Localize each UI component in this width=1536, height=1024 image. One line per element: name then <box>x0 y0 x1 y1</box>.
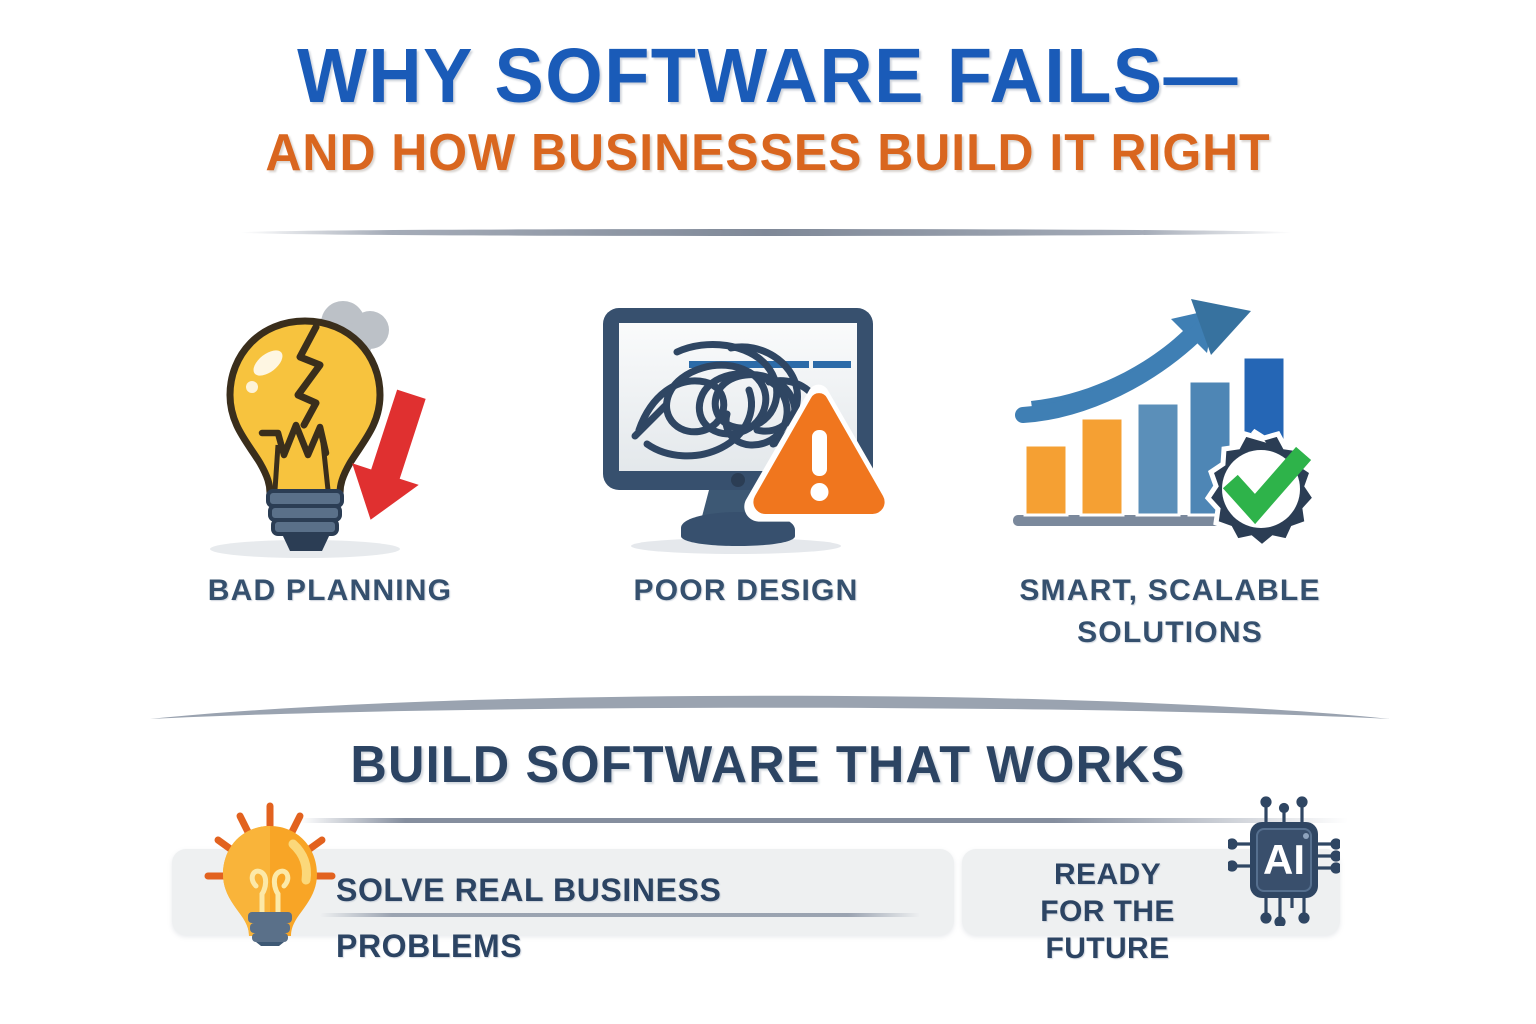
column-label-smart-scalable-solutions: SMART, SCALABLE SOLUTIONS <box>940 570 1400 654</box>
glowing-lightbulb-icon <box>198 800 348 951</box>
column-label-bad-planning: BAD PLANNING <box>100 570 560 612</box>
column-smart-scalable-solutions: SMART, SCALABLE SOLUTIONS <box>940 280 1400 654</box>
pill-right-label: READY FOR THE FUTURE <box>1000 856 1215 967</box>
column-label-line1: SMART, SCALABLE <box>1019 574 1320 607</box>
pill-right-line1: READY <box>1054 858 1161 891</box>
chip-label: AI <box>1263 836 1305 883</box>
column-bad-planning: BAD PLANNING <box>100 280 560 612</box>
three-column-section: BAD PLANNING <box>0 280 1536 680</box>
divider-top <box>240 229 1292 236</box>
column-label-line2: SOLUTIONS <box>1077 616 1263 649</box>
pill-right-line2: FOR THE FUTURE <box>1040 895 1174 965</box>
page-subtitle: AND HOW BUSINESSES BUILD IT RIGHT <box>31 124 1506 182</box>
infographic-page: WHY SOFTWARE FAILS— AND HOW BUSINESSES B… <box>0 0 1536 1024</box>
rule-above-pills <box>300 818 1348 823</box>
column-label-poor-design: POOR DESIGN <box>516 570 976 612</box>
ai-chip-icon: AI <box>1228 796 1340 931</box>
pill-left-label: SOLVE REAL BUSINESS PROBLEMS <box>336 862 896 974</box>
monitor-with-tangled-scribble-and-warning-icon <box>516 280 976 570</box>
header: WHY SOFTWARE FAILS— AND HOW BUSINESSES B… <box>0 34 1536 182</box>
bottom-heading: BUILD SOFTWARE THAT WORKS <box>23 735 1513 795</box>
column-poor-design: POOR DESIGN <box>516 280 976 612</box>
growth-bar-chart-with-gear-check-icon <box>940 280 1400 570</box>
page-title: WHY SOFTWARE FAILS— <box>31 34 1506 118</box>
divider-arc <box>150 692 1390 722</box>
broken-lightbulb-with-smoke-and-down-arrow-icon <box>100 280 560 570</box>
